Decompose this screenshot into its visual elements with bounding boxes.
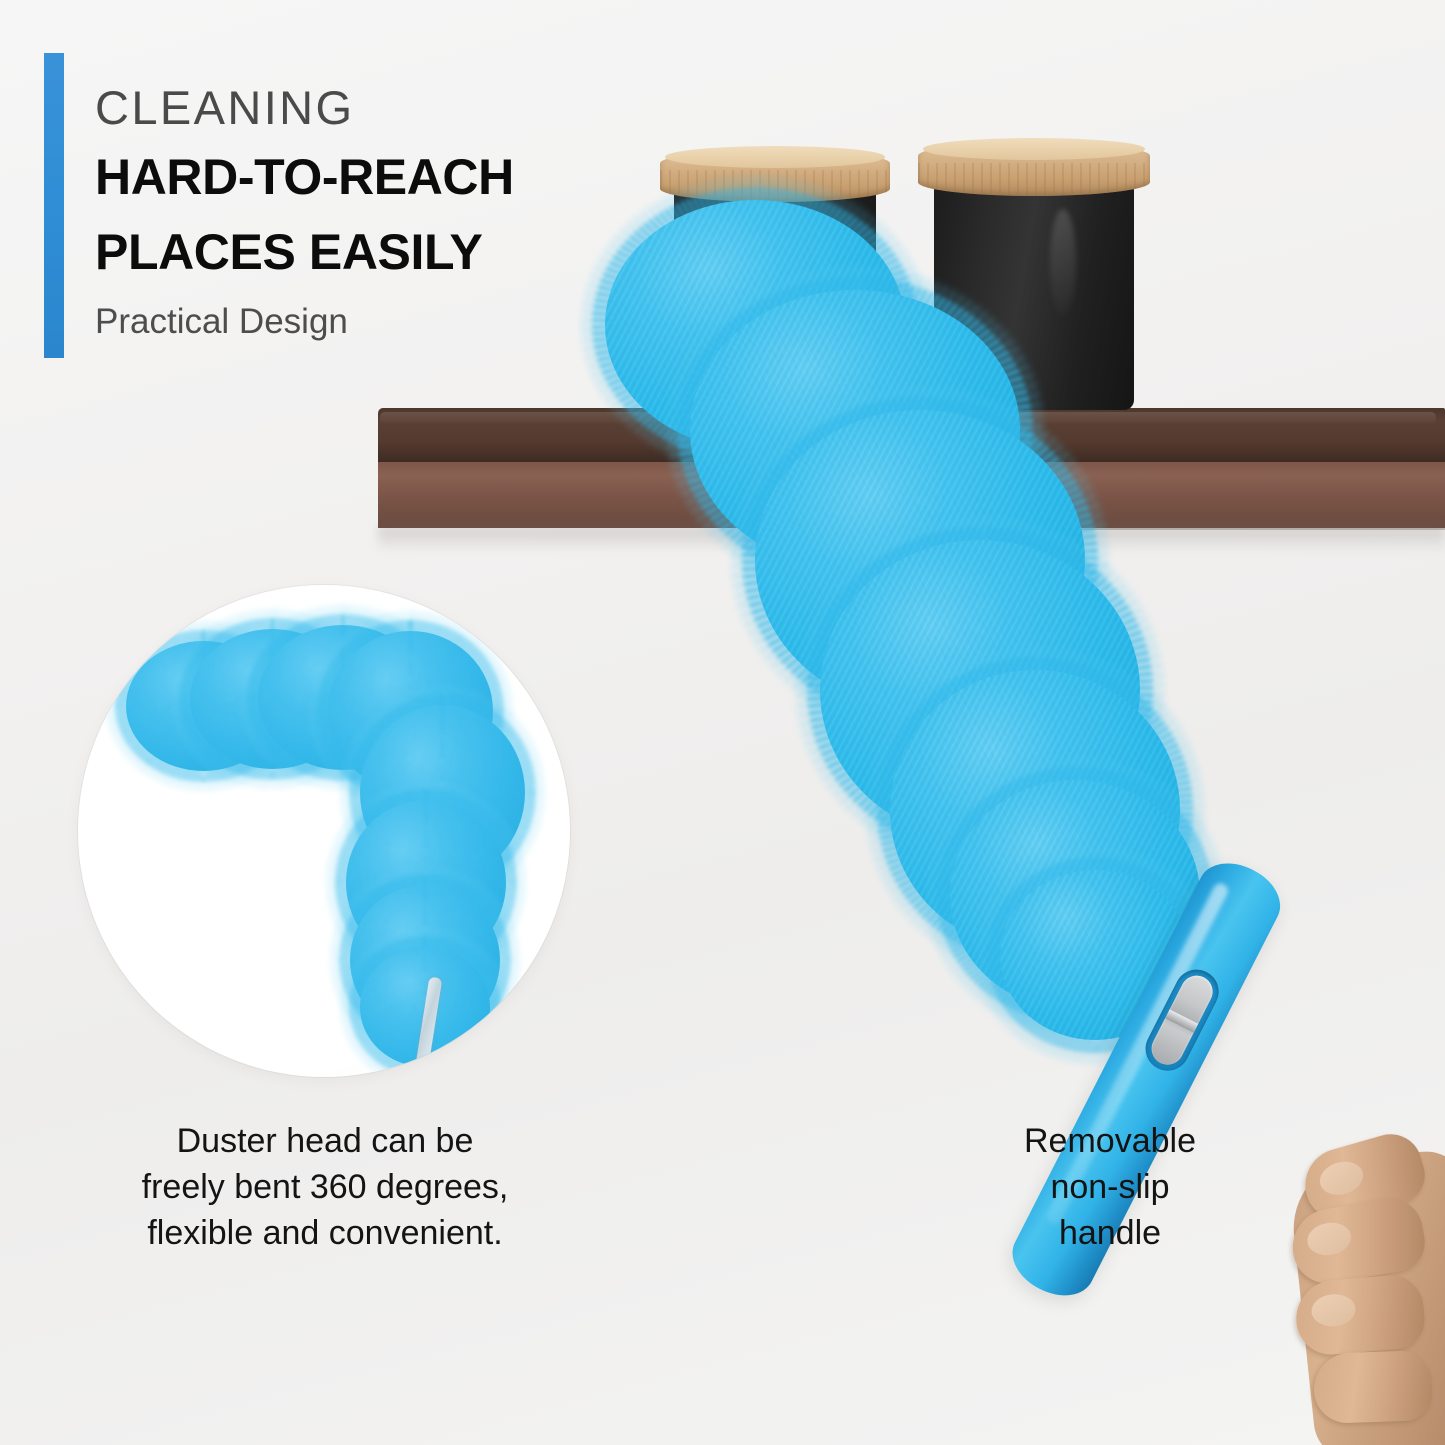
headline-line-1: HARD-TO-REACH: [95, 148, 595, 207]
fingernail: [1310, 1292, 1357, 1328]
product-feature-image: CLEANING HARD-TO-REACH PLACES EASILY Pra…: [0, 0, 1445, 1445]
caption-left-line-1: Duster head can be: [90, 1118, 560, 1164]
release-button[interactable]: [1146, 970, 1218, 1070]
headline-block: CLEANING HARD-TO-REACH PLACES EASILY Pra…: [44, 53, 604, 358]
hand-gripping-handle: [1268, 1130, 1445, 1445]
headline-line-2: PLACES EASILY: [95, 223, 595, 282]
caption-left-line-3: flexible and convenient.: [90, 1210, 560, 1256]
caption-right-line-3: handle: [935, 1210, 1285, 1256]
kicker-text: CLEANING: [95, 83, 595, 132]
fingernail: [1305, 1219, 1354, 1258]
release-button-ridge: [1165, 1009, 1198, 1032]
caption-right-line-2: non-slip: [935, 1164, 1285, 1210]
caption-left: Duster head can be freely bent 360 degre…: [90, 1118, 560, 1257]
caption-right-line-1: Removable: [935, 1118, 1285, 1164]
finger: [1313, 1350, 1433, 1424]
caption-left-line-2: freely bent 360 degrees,: [90, 1164, 560, 1210]
fingernail: [1316, 1157, 1367, 1200]
microfiber-duster-head: [520, 160, 1280, 980]
bent-duster-head-closeup: [78, 585, 570, 1077]
caption-right: Removable non-slip handle: [935, 1118, 1285, 1257]
subheadline-text: Practical Design: [95, 303, 595, 342]
headline-text-group: CLEANING HARD-TO-REACH PLACES EASILY Pra…: [95, 53, 595, 342]
accent-bar: [44, 53, 64, 358]
bamboo-lid-top: [923, 138, 1146, 160]
